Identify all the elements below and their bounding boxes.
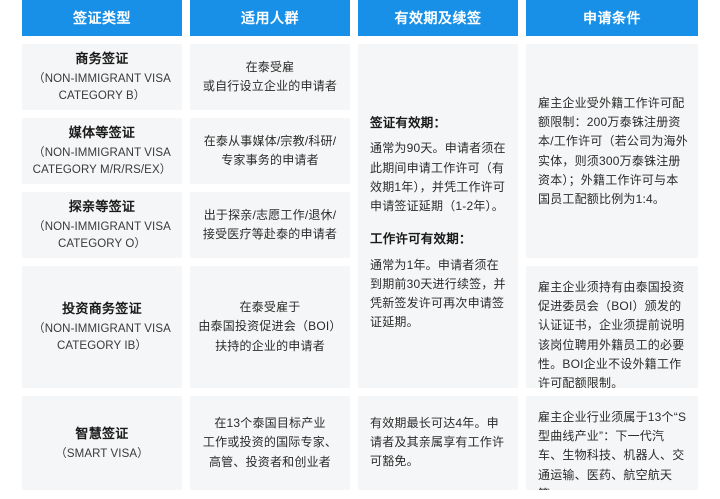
visa-type-name: 探亲等签证	[69, 197, 136, 217]
validity-section-title-permit: 工作许可有效期：	[370, 230, 472, 249]
header-conditions: 申请条件	[526, 0, 698, 36]
column-conditions: 申请条件	[526, 0, 698, 36]
conditions-text-smart: 雇主企业行业须属于13个“S型曲线产业”：下一代汽车、生物科技、机器人、交通运输…	[538, 408, 688, 490]
visa-type-code: （NON-IMMIGRANT VISA CATEGORY M/R/RS/EX）	[30, 145, 174, 178]
visa-type-name: 媒体等签证	[69, 123, 136, 143]
audience-text: 在13个泰国目标产业 工作或投资的国际专家、 高管、投资者和创业者	[203, 414, 337, 472]
cell-validity-standard: 签证有效期： 通常为90天。申请者须在此期间申请工作许可（有效期1年），并凭工作…	[358, 44, 518, 388]
audience-text: 在泰受雇于 由泰国投资促进会（BOI） 扶持的企业的申请者	[198, 298, 341, 356]
visa-type-code: （NON-IMMIGRANT VISA CATEGORY IB）	[30, 321, 174, 354]
validity-section-text-visa: 通常为90天。申请者须在此期间申请工作许可（有效期1年），并凭工作许可申请签证延…	[370, 139, 508, 216]
cell-conditions-business: 雇主企业受外籍工作许可配额限制：200万泰铢注册资本/工作许可（若公司为海外实体…	[526, 44, 698, 258]
header-audience: 适用人群	[190, 0, 350, 36]
conditions-text-business: 雇主企业受外籍工作许可配额限制：200万泰铢注册资本/工作许可（若公司为海外实体…	[538, 94, 688, 209]
visa-type-name: 商务签证	[75, 49, 128, 69]
column-visa-type: 签证类型	[22, 0, 182, 36]
cell-validity-smart: 有效期最长可达4年。申请者及其亲属享有工作许可豁免。	[358, 396, 518, 490]
cell-visa-type-business: 商务签证 （NON-IMMIGRANT VISA CATEGORY B）	[22, 44, 182, 110]
cell-visa-type-media: 媒体等签证 （NON-IMMIGRANT VISA CATEGORY M/R/R…	[22, 118, 182, 184]
cell-visa-type-smart: 智慧签证 （SMART VISA）	[22, 396, 182, 490]
cell-audience-family: 出于探亲/志愿工作/退休/ 接受医疗等赴泰的申请者	[190, 192, 350, 258]
column-validity: 有效期及续签	[358, 0, 518, 36]
cell-audience-investment: 在泰受雇于 由泰国投资促进会（BOI） 扶持的企业的申请者	[190, 266, 350, 388]
visa-type-code: （SMART VISA）	[55, 446, 148, 463]
cell-conditions-boi: 雇主企业须持有由泰国投资促进委员会（BOI）颁发的认证证书，企业须提前说明该岗位…	[526, 266, 698, 388]
validity-section-text-permit: 通常为1年。申请者须在到期前30天进行续签，并凭新签发许可再次申请签证延期。	[370, 256, 508, 333]
cell-audience-business: 在泰受雇 或自行设立企业的申请者	[190, 44, 350, 110]
visa-type-code: （NON-IMMIGRANT VISA CATEGORY B）	[30, 71, 174, 104]
visa-type-code: （NON-IMMIGRANT VISA CATEGORY O）	[30, 219, 174, 252]
header-validity: 有效期及续签	[358, 0, 518, 36]
validity-text-smart: 有效期最长可达4年。申请者及其亲属享有工作许可豁免。	[370, 414, 508, 472]
conditions-text-boi: 雇主企业须持有由泰国投资促进委员会（BOI）颁发的认证证书，企业须提前说明该岗位…	[538, 278, 688, 388]
cell-conditions-smart: 雇主企业行业须属于13个“S型曲线产业”：下一代汽车、生物科技、机器人、交通运输…	[526, 396, 698, 490]
header-visa-type: 签证类型	[22, 0, 182, 36]
audience-text: 在泰受雇 或自行设立企业的申请者	[203, 58, 337, 96]
column-audience: 适用人群	[190, 0, 350, 36]
cell-audience-smart: 在13个泰国目标产业 工作或投资的国际专家、 高管、投资者和创业者	[190, 396, 350, 490]
cell-visa-type-investment: 投资商务签证 （NON-IMMIGRANT VISA CATEGORY IB）	[22, 266, 182, 388]
visa-type-name: 智慧签证	[75, 424, 128, 444]
audience-text: 出于探亲/志愿工作/退休/ 接受医疗等赴泰的申请者	[203, 206, 337, 244]
audience-text: 在泰从事媒体/宗教/科研/ 专家事务的申请者	[204, 132, 337, 170]
validity-section-title-visa: 签证有效期：	[370, 114, 446, 133]
visa-type-name: 投资商务签证	[62, 299, 142, 319]
visa-comparison-table: 签证类型 商务签证 （NON-IMMIGRANT VISA CATEGORY B…	[0, 0, 720, 499]
cell-visa-type-family: 探亲等签证 （NON-IMMIGRANT VISA CATEGORY O）	[22, 192, 182, 258]
cell-audience-media: 在泰从事媒体/宗教/科研/ 专家事务的申请者	[190, 118, 350, 184]
